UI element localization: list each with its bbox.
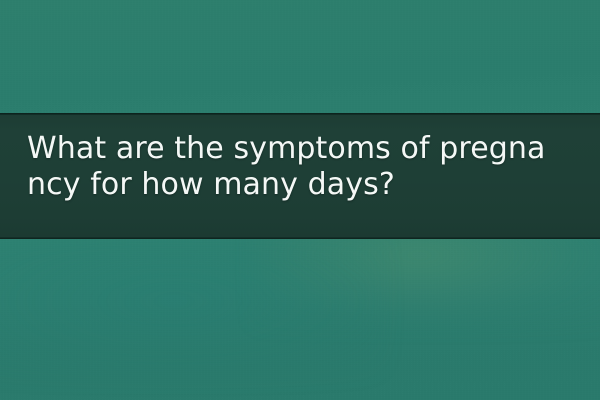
caption-question-text: What are the symptoms of pregna ncy for …: [27, 131, 584, 203]
caption-overlay-band: What are the symptoms of pregna ncy for …: [0, 113, 600, 239]
band-bottom-edge: [0, 237, 600, 239]
screenshot-canvas: What are the symptoms of pregna ncy for …: [0, 0, 600, 400]
band-top-edge: [0, 113, 600, 115]
